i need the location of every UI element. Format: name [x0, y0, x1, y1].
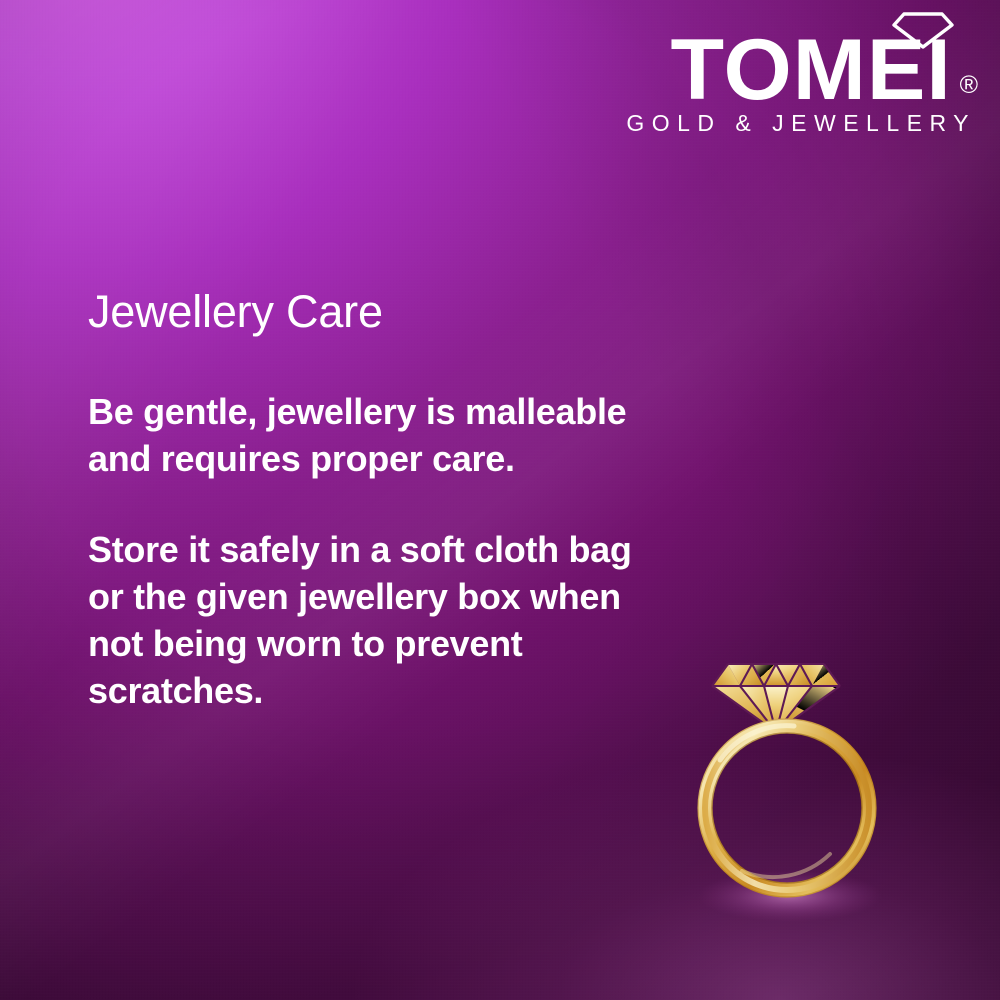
copy-block: Jewellery Care Be gentle, jewellery is m… — [88, 288, 688, 715]
logo-wordmark: TOMEI — [670, 34, 951, 106]
brand-logo: TOMEI ® GOLD & JEWELLERY — [626, 8, 978, 135]
diamond-ring-illustration — [690, 628, 890, 928]
page-title: Jewellery Care — [88, 288, 688, 336]
jewellery-care-banner: TOMEI ® GOLD & JEWELLERY Jewellery Care … — [0, 0, 1000, 1000]
logo-wordmark-row: TOMEI ® — [626, 34, 978, 106]
registered-trademark-icon: ® — [960, 73, 978, 98]
care-paragraph-2: Store it safely in a soft cloth bag or t… — [88, 526, 648, 715]
care-paragraph-1: Be gentle, jewellery is malleable and re… — [88, 388, 648, 482]
